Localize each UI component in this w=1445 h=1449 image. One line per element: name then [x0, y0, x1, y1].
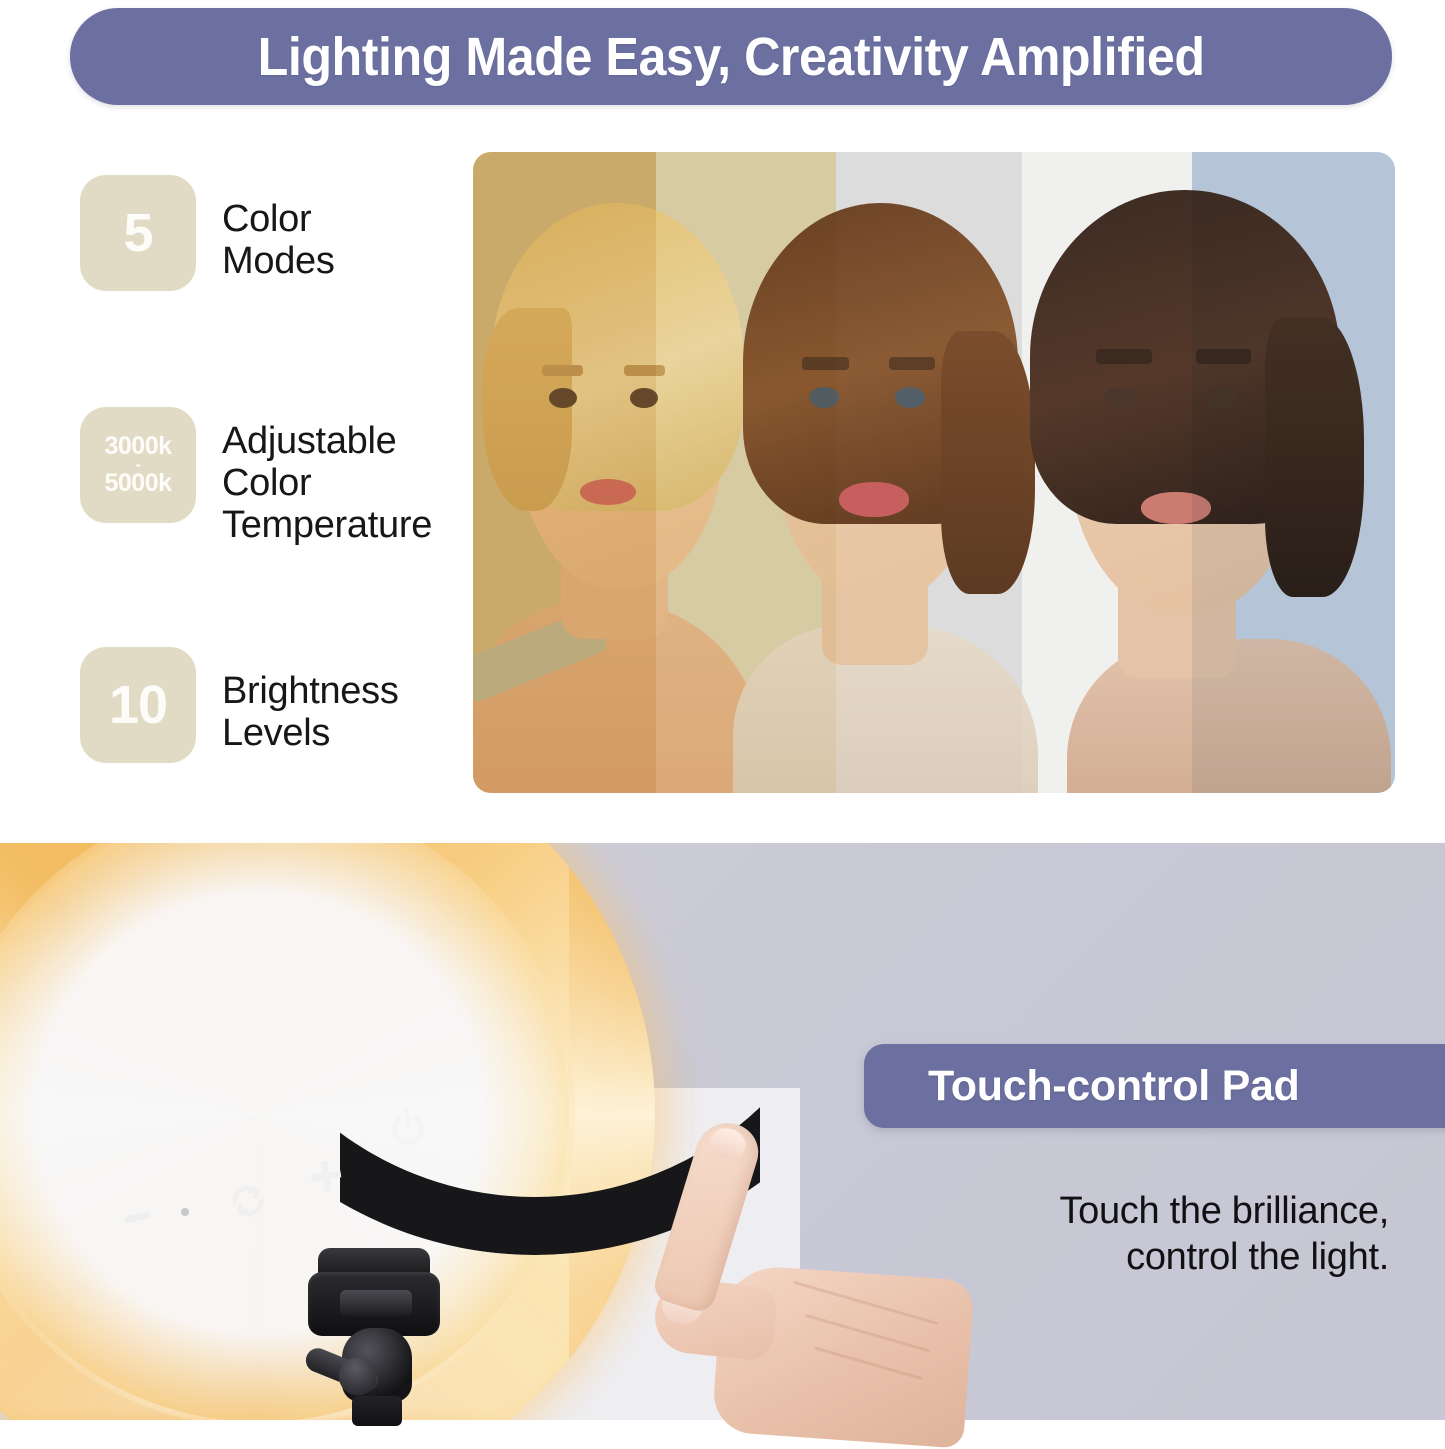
touch-pad-tagline: Touch the brilliance, control the light.	[869, 1188, 1389, 1281]
indicator-dot-icon	[180, 1207, 190, 1217]
plus-icon[interactable]	[305, 1155, 347, 1197]
tripod-ball-mount[interactable]	[296, 1248, 456, 1420]
minus-icon[interactable]	[120, 1200, 154, 1234]
touch-control-pad-label: Touch-control Pad	[928, 1062, 1300, 1111]
mode-cycle-icon[interactable]	[225, 1178, 271, 1224]
power-icon[interactable]	[385, 1105, 431, 1151]
tagline-line2: control the light.	[869, 1234, 1389, 1280]
mount-adjust-knob[interactable]	[340, 1290, 412, 1316]
tagline-line1: Touch the brilliance,	[1059, 1190, 1389, 1232]
touch-control-pad-badge: Touch-control Pad	[864, 1044, 1445, 1128]
